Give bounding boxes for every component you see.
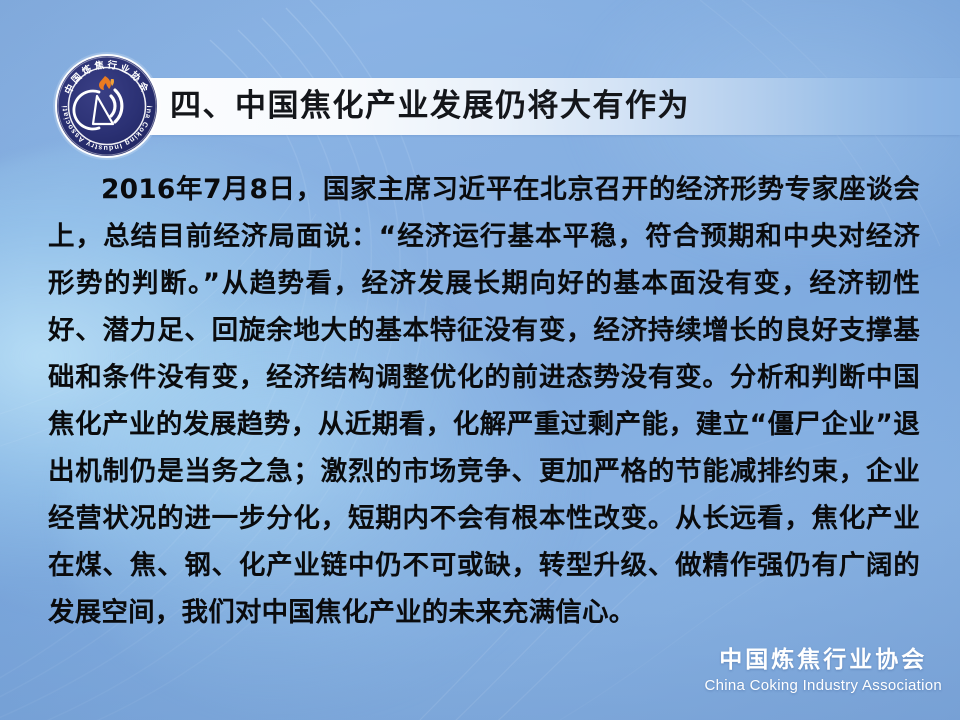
watermark: 中国炼焦行业协会 China Coking Industry Associati… xyxy=(704,648,942,694)
logo-emblem-icon: 中国炼焦行业协会 China Coking Industry Associati… xyxy=(53,52,161,160)
watermark-en: China Coking Industry Association xyxy=(704,678,942,695)
presentation-slide: 四、中国焦化产业发展仍将大有作为 中国炼焦行业协会 xyxy=(0,0,960,720)
page-title: 四、中国焦化产业发展仍将大有作为 xyxy=(170,78,690,135)
watermark-cn: 中国炼焦行业协会 xyxy=(704,648,942,673)
body-paragraph: 2016年7月8日，国家主席习近平在北京召开的经济形势专家座谈会上，总结目前经济… xyxy=(48,166,920,636)
association-logo: 中国炼焦行业协会 China Coking Industry Associati… xyxy=(53,52,161,160)
